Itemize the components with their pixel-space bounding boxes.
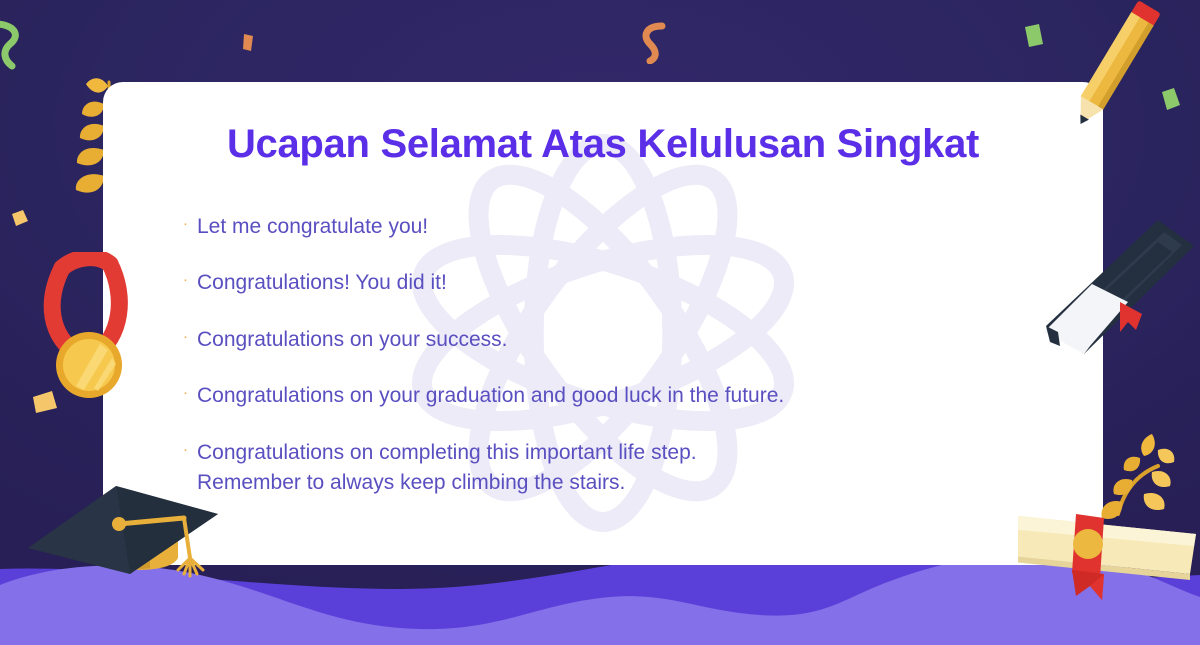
greeting-card: Ucapan Selamat Atas Kelulusan Singkat · … bbox=[103, 82, 1103, 565]
bullet-icon: · bbox=[183, 268, 197, 291]
list-item: · Congratulations on your graduation and… bbox=[183, 381, 1043, 411]
bullet-icon: · bbox=[183, 325, 197, 348]
greeting-text: Congratulations on completing this impor… bbox=[197, 438, 697, 499]
greeting-text: Congratulations on your graduation and g… bbox=[197, 381, 784, 411]
list-item: · Congratulations on completing this imp… bbox=[183, 438, 1043, 499]
list-item: · Congratulations! You did it! bbox=[183, 268, 1043, 298]
confetti-orange-chip-top bbox=[240, 32, 258, 54]
greeting-card-graphic: Ucapan Selamat Atas Kelulusan Singkat · … bbox=[0, 0, 1200, 645]
book-icon bbox=[1032, 214, 1200, 369]
greeting-text: Congratulations on your success. bbox=[197, 325, 508, 355]
confetti-orange-ribbon-topmid bbox=[634, 22, 674, 64]
pencil-icon bbox=[1040, 0, 1200, 139]
greeting-list: · Let me congratulate you! · Congratulat… bbox=[163, 212, 1043, 499]
greeting-text: Congratulations! You did it! bbox=[197, 268, 447, 298]
confetti-gold-chip-bottomleft bbox=[10, 208, 30, 228]
diploma-scroll-icon bbox=[1018, 418, 1200, 603]
bullet-icon: · bbox=[183, 438, 197, 461]
bullet-icon: · bbox=[183, 212, 197, 235]
medal-icon bbox=[38, 252, 168, 407]
bullet-icon: · bbox=[183, 381, 197, 404]
page-title: Ucapan Selamat Atas Kelulusan Singkat bbox=[163, 122, 1043, 166]
list-item: · Congratulations on your success. bbox=[183, 325, 1043, 355]
list-item: · Let me congratulate you! bbox=[183, 212, 1043, 242]
graduation-cap-icon bbox=[18, 462, 243, 592]
confetti-green-ribbon-topleft bbox=[0, 20, 30, 70]
greeting-text: Let me congratulate you! bbox=[197, 212, 428, 242]
